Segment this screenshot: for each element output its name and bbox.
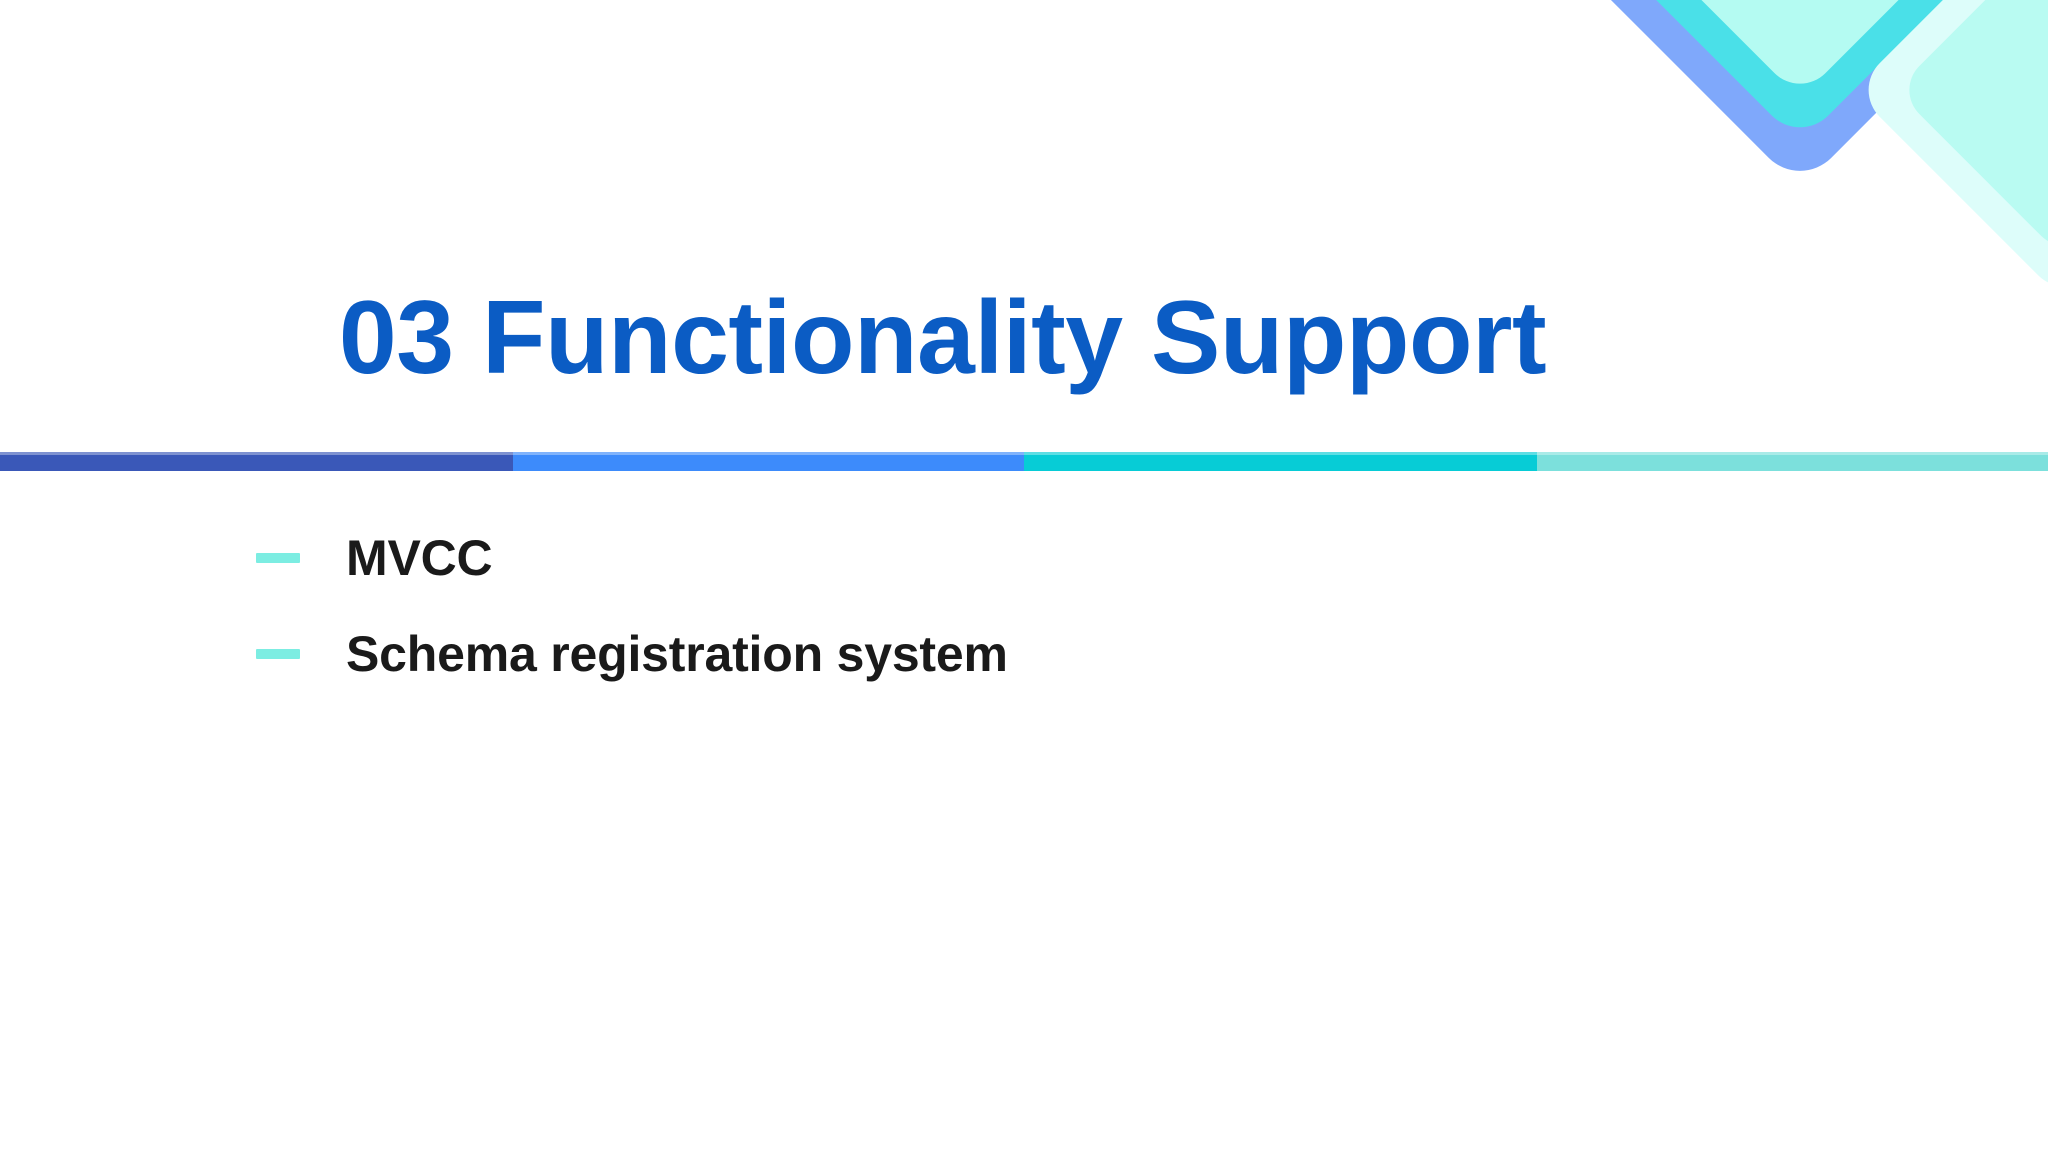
bullet-label: Schema registration system bbox=[346, 625, 1008, 683]
nested-diamond-decoration bbox=[1585, 0, 2048, 310]
list-item: Schema registration system bbox=[256, 606, 1756, 702]
slide-title: 03 Functionality Support bbox=[0, 282, 1885, 394]
dash-bullet-icon bbox=[256, 649, 300, 659]
diamond-middle-shape bbox=[1541, 0, 2048, 144]
diamond-outer-shape bbox=[1496, 0, 2048, 189]
divider-highlight bbox=[0, 452, 2048, 455]
diamond-secondary-inner-shape bbox=[1895, 0, 2048, 260]
diamond-inner-shape bbox=[1586, 0, 2013, 99]
diamond-secondary-outer-shape bbox=[1853, 0, 2048, 302]
bullet-label: MVCC bbox=[346, 529, 492, 587]
secondary-diamond-decoration bbox=[1915, 0, 2048, 360]
presentation-slide: 03 Functionality Support MVCC Schema reg… bbox=[0, 0, 2048, 1153]
bullet-list: MVCC Schema registration system bbox=[256, 510, 1756, 702]
dash-bullet-icon bbox=[256, 553, 300, 563]
divider-bar bbox=[0, 452, 2048, 471]
list-item: MVCC bbox=[256, 510, 1756, 606]
